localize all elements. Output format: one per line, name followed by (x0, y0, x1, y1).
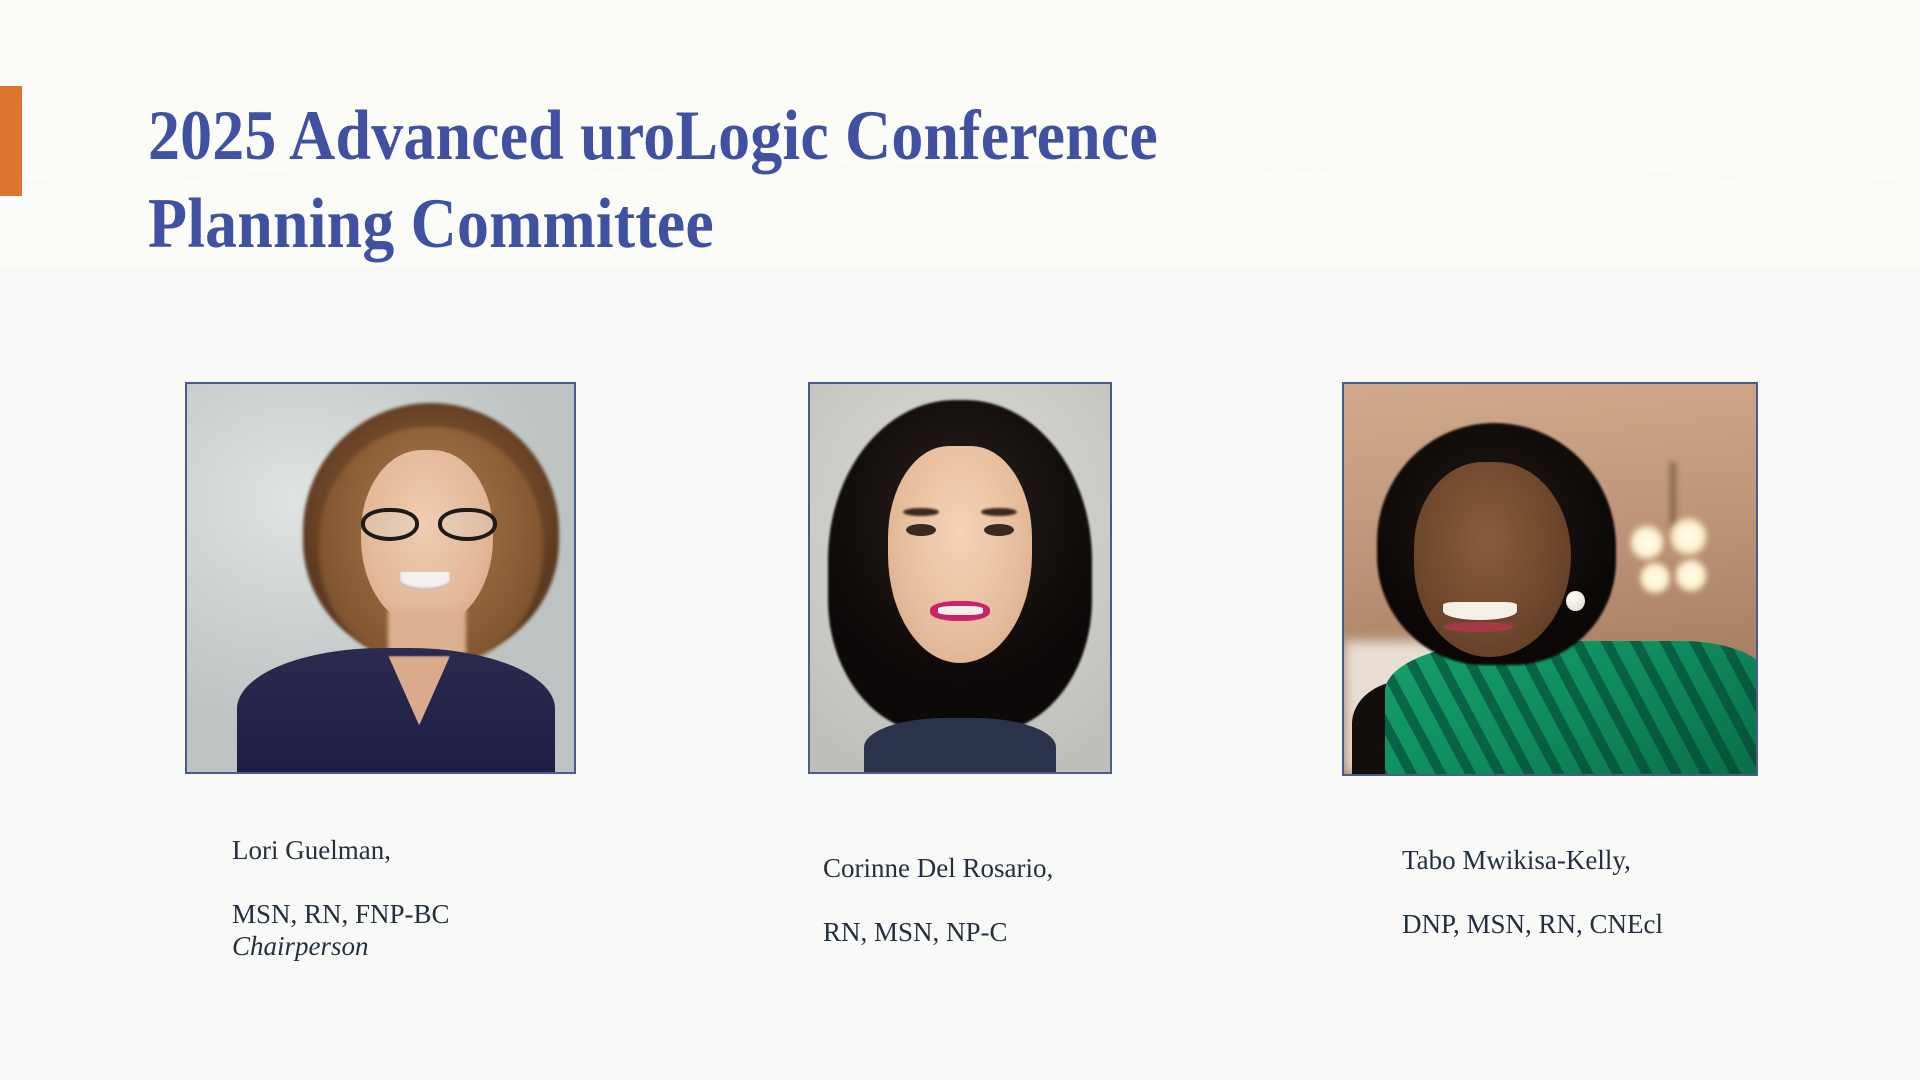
portrait-torso-shape (864, 718, 1056, 772)
member-photo-frame (185, 382, 576, 774)
portrait-torso-shape (1385, 641, 1756, 774)
chandelier-bulb (1669, 514, 1708, 559)
member-name: Tabo Mwikisa-Kelly, (1402, 845, 1631, 875)
portrait-smile-shape (400, 572, 450, 589)
chandelier-bulb (1674, 556, 1708, 595)
chandelier-bulb (1629, 522, 1665, 563)
committee-member-grid: Lori Guelman, MSN, RN, FNP-BC Chairperso… (0, 0, 1920, 1080)
portrait-earring-shape (1566, 591, 1585, 611)
chandelier-bulb (1639, 559, 1671, 596)
portrait-teeth-shape (938, 606, 983, 615)
member-caption: Lori Guelman, MSN, RN, FNP-BC Chairperso… (232, 802, 662, 994)
member-caption: Corinne Del Rosario, RN, MSN, NP-C (823, 820, 1243, 980)
portrait-eye-right (984, 524, 1014, 536)
member-portrait-photo (1344, 384, 1756, 774)
member-caption: Tabo Mwikisa-Kelly, DNP, MSN, RN, CNEcl (1402, 812, 1832, 972)
chandelier-stem (1670, 462, 1675, 526)
member-photo-frame (808, 382, 1112, 774)
portrait-brow-right (981, 508, 1017, 516)
member-portrait-photo (187, 384, 574, 772)
member-role: Chairperson (232, 930, 662, 962)
member-credentials: RN, MSN, NP-C (823, 917, 1008, 947)
portrait-lips-shape (1443, 622, 1513, 632)
eyeglasses-icon (361, 508, 496, 541)
member-credentials: DNP, MSN, RN, CNEcl (1402, 909, 1663, 939)
chandelier-icon (1620, 462, 1727, 649)
member-credentials: MSN, RN, FNP-BC (232, 899, 450, 929)
portrait-face-shape (888, 446, 1032, 663)
member-name: Corinne Del Rosario, (823, 853, 1053, 883)
member-portrait-photo (810, 384, 1110, 772)
slide-root: 2025 Advanced uroLogic Conference Planni… (0, 0, 1920, 1080)
member-photo-frame (1342, 382, 1758, 776)
portrait-brow-left (903, 508, 939, 516)
portrait-eye-left (906, 524, 936, 536)
member-name: Lori Guelman, (232, 835, 391, 865)
